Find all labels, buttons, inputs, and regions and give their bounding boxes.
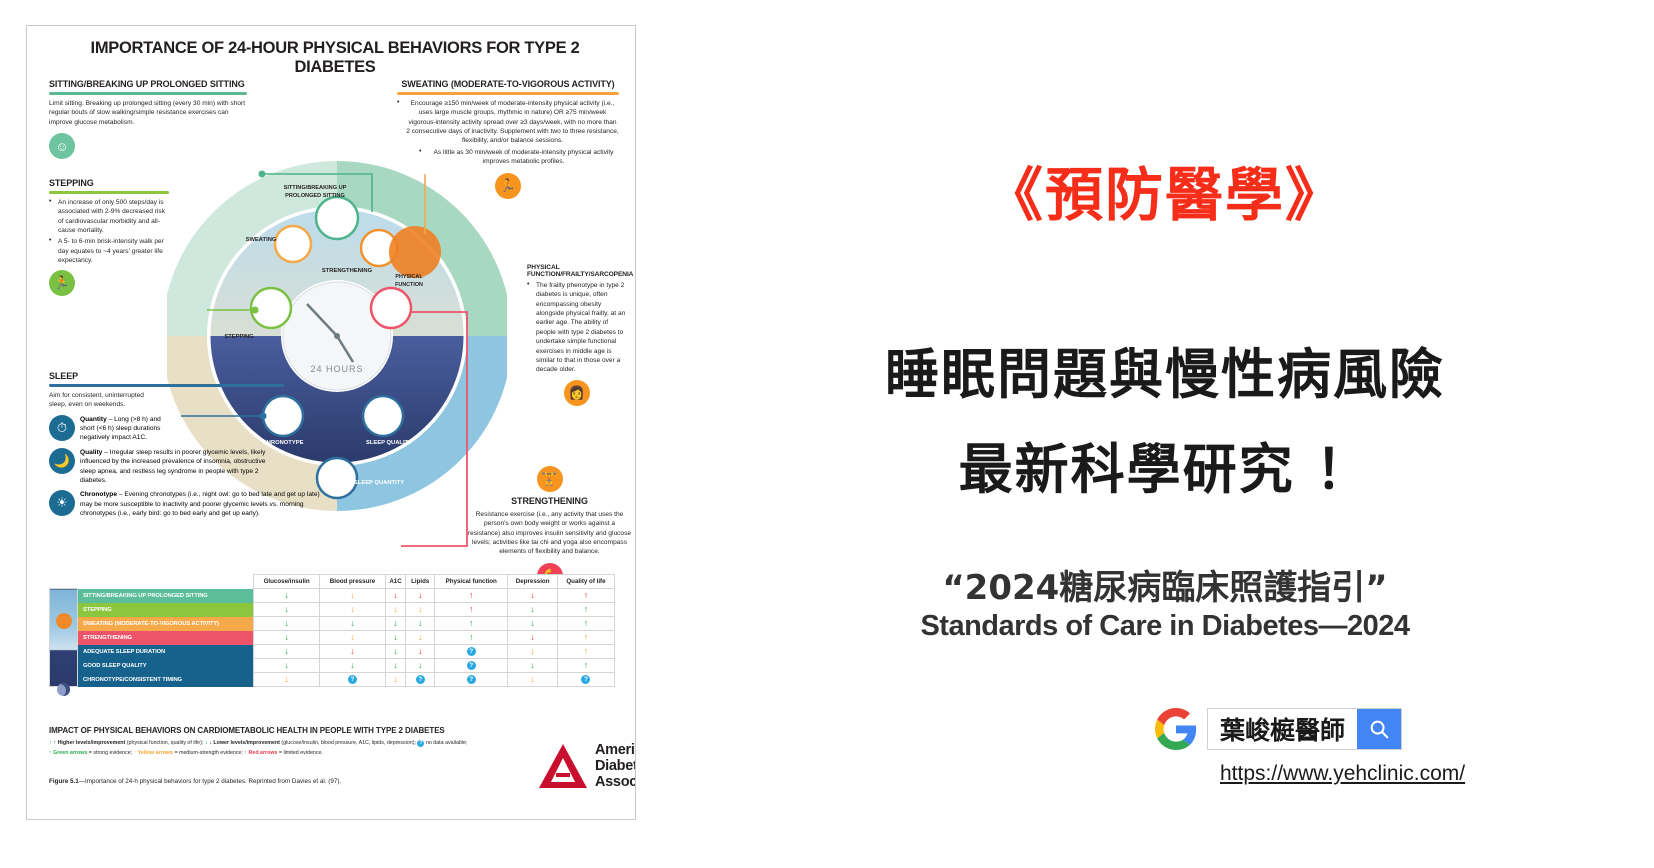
table-cell: ↓: [385, 617, 406, 631]
arrow-down-green-icon: ↓: [418, 618, 423, 628]
legend-line-2: ↑ Green arrows = strong evidence; ↑ Yell…: [49, 750, 609, 757]
arrow-down-red-icon: ↓: [393, 590, 398, 600]
running-person-icon: 🏃: [495, 173, 521, 199]
svg-text:SLEEP QUANTITY: SLEEP QUANTITY: [354, 480, 404, 486]
table-cell: ↓: [508, 631, 558, 645]
svg-text:STRENGTHENING: STRENGTHENING: [322, 268, 373, 274]
table-row: STEPPING↓↓↓↓↑↓↑: [50, 603, 615, 617]
arrow-down-green-icon: ↓: [530, 618, 535, 628]
headline-line-1: 睡眠問題與慢性病風險: [700, 330, 1630, 409]
arrow-up-yellow-icon: ↑: [584, 632, 589, 642]
arrow-down-green-icon: ↓: [350, 618, 355, 628]
table-cell: ↑: [557, 603, 614, 617]
ada-line-2: Diabetes: [595, 758, 636, 774]
section-physical-function: Physical function/frailty/sarcopenia The…: [527, 264, 627, 406]
table-cell: ↓: [385, 631, 406, 645]
table-cell: ↓: [385, 603, 406, 617]
arrow-up-red-icon: ↑: [469, 604, 474, 614]
no-data-icon: ?: [467, 647, 476, 656]
arrow-up-green-icon: ↑: [584, 604, 589, 614]
figure-note: Figure 5.1—Importance of 24-h physical b…: [49, 778, 519, 785]
legend-up-label: ↑ Higher levels/improvement: [53, 740, 125, 746]
section-stepping: STEPPING An increase of only 500 steps/d…: [49, 178, 169, 296]
clinic-website-link[interactable]: https://www.yehclinic.com/: [1220, 762, 1465, 786]
sleep-quality-label: Quality: [80, 449, 102, 456]
table-cell: ↓: [508, 589, 558, 603]
ada-wordmark: American Diabetes Association: [595, 742, 636, 791]
table-cell: ↓: [385, 645, 406, 659]
row-label: GOOD SLEEP QUALITY: [78, 659, 254, 673]
section-body-strengthening: Resistance exercise (i.e., any activity …: [467, 510, 632, 557]
legend-down-label: ↓ Lower levels/improvement: [209, 740, 280, 746]
subtitle-english: Standards of Care in Diabetes—2024: [700, 610, 1630, 643]
sleep-item-quality: 🌙 Quality – Irregular sleep results in p…: [49, 448, 349, 485]
ada-triangle-icon: [537, 742, 589, 790]
table-cell: ↓: [254, 589, 320, 603]
page-title: 《預防醫學》: [700, 148, 1630, 232]
physical-function-bullets: The frailty phenotype in type 2 diabetes…: [527, 281, 627, 375]
svg-text:SWEATING: SWEATING: [246, 237, 277, 243]
search-icon: [1368, 718, 1390, 740]
slide-root: IMPORTANCE OF 24-HOUR PHYSICAL BEHAVIORS…: [0, 0, 1654, 868]
divider-orange: [397, 92, 619, 95]
table-cell: ↑: [435, 617, 508, 631]
arrow-down-red-icon: ↓: [530, 590, 535, 600]
legend-red-label: ↑ Red arrows: [244, 750, 277, 756]
legend-nodata: no data available;: [424, 740, 467, 746]
column-header-a1c: A1C: [385, 575, 406, 589]
svg-text:SLEEP QUALITY: SLEEP QUALITY: [366, 440, 412, 446]
arrow-down-green-icon: ↓: [393, 660, 398, 670]
section-strengthening: 🏋 STRENGTHENING Resistance exercise (i.e…: [467, 466, 632, 589]
arrow-down-yellow-icon: ↓: [393, 674, 398, 684]
section-body-sitting: Limit sitting. Breaking up prolonged sit…: [49, 99, 247, 127]
arrow-down-green-icon: ↓: [284, 604, 289, 614]
arrow-up-red-icon: ↑: [469, 590, 474, 600]
table-cell: ↓: [254, 645, 320, 659]
table-caption: IMPACT OF PHYSICAL BEHAVIORS ON CARDIOME…: [49, 726, 609, 735]
table-cell: ↑: [435, 603, 508, 617]
column-header-depression: Depression: [508, 575, 558, 589]
list-item: The frailty phenotype in type 2 diabetes…: [527, 281, 627, 375]
arrow-down-yellow-icon: ↓: [418, 604, 423, 614]
arrow-up-red-icon: ↑: [584, 590, 589, 600]
table-header: Glucose/insulin Blood pressure A1C Lipid…: [50, 575, 615, 589]
arrow-down-red-icon: ↓: [418, 646, 423, 656]
ada-line-3: Association: [595, 774, 636, 790]
header-behavior-blank: [78, 575, 254, 589]
weightlifting-icon: 🏋: [537, 466, 563, 492]
sleep-intro: Aim for consistent, uninterrupted sleep,…: [49, 391, 144, 410]
legend-up-note: (physical function, quality of life);: [125, 740, 205, 746]
list-item: A 5- to 6-min brisk-intensity walk per d…: [49, 237, 169, 265]
legend-red-note: = limited evidence.: [277, 750, 323, 756]
table-cell: ↓: [385, 659, 406, 673]
column-header-glucose-insulin: Glucose/insulin: [254, 575, 320, 589]
subtitle-chinese: “2024糖尿病臨床照護指引”: [700, 560, 1630, 609]
infographic-figure: IMPORTANCE OF 24-HOUR PHYSICAL BEHAVIORS…: [26, 25, 636, 820]
sleep-chronotype-label: Chronotype: [80, 491, 117, 498]
table-cell: ↓: [320, 631, 385, 645]
table-cell: ↑: [557, 659, 614, 673]
row-label: STRENGTHENING: [78, 631, 254, 645]
group-exercise-icon: ☺: [49, 133, 75, 159]
arrow-down-yellow-icon: ↓: [350, 604, 355, 614]
stepping-bullets: An increase of only 500 steps/day is ass…: [49, 198, 169, 266]
arrow-down-green-icon: ↓: [284, 646, 289, 656]
table-row: SWEATING (MODERATE-TO-VIGOROUS ACTIVITY)…: [50, 617, 615, 631]
table-row: CHRONOTYPE/CONSISTENT TIMING↓?↓??↓?: [50, 673, 615, 687]
legend-green-label: ↑ Green arrows: [49, 750, 87, 756]
sleep-moon-zzz-icon: 🌙: [49, 448, 75, 474]
right-content-panel: 《預防醫學》 睡眠問題與慢性病風險 最新科學研究 ！ “2024糖尿病臨床照護指…: [700, 30, 1630, 830]
column-header-lipids: Lipids: [406, 575, 435, 589]
no-data-icon: ?: [348, 675, 357, 684]
section-heading-physical-function: Physical function/frailty/sarcopenia: [527, 264, 627, 278]
column-header-quality-of-life: Quality of life: [557, 575, 614, 589]
legend-line-1: ↑ ↑ Higher levels/improvement (physical …: [49, 740, 609, 747]
google-search-widget[interactable]: 葉峻榳醫師: [1155, 708, 1402, 750]
table-cell: ↑: [435, 631, 508, 645]
table-cell: ?: [435, 659, 508, 673]
row-label: SWEATING (MODERATE-TO-VIGOROUS ACTIVITY): [78, 617, 254, 631]
arrow-down-green-icon: ↓: [350, 660, 355, 670]
sleep-item-chronotype: ☀ Chronotype – Evening chronotypes (i.e.…: [49, 490, 349, 518]
arrow-down-green-icon: ↓: [284, 632, 289, 642]
arrow-down-yellow-icon: ↓: [418, 632, 423, 642]
table-cell: ↓: [320, 645, 385, 659]
day-night-band-icon: [50, 589, 78, 687]
arrow-down-yellow-icon: ↓: [350, 590, 355, 600]
figure-note-label: Figure 5.1: [49, 778, 79, 785]
arrow-down-yellow-icon: ↓: [350, 632, 355, 642]
arrow-down-yellow-icon: ↓: [393, 604, 398, 614]
table-cell: ↓: [508, 645, 558, 659]
table-cell: ↑: [557, 631, 614, 645]
table-row: STRENGTHENING↓↓↓↓↑↓↑: [50, 631, 615, 645]
figure-note-text: —Importance of 24-h physical behaviors f…: [79, 778, 342, 785]
table-cell: ↓: [406, 603, 435, 617]
table-body: SITTING/BREAKING UP PROLONGED SITTING↓↓↓…: [50, 589, 615, 687]
table-cell: ↓: [508, 673, 558, 687]
table-cell: ↓: [508, 617, 558, 631]
arrow-up-green-icon: ↑: [469, 632, 474, 642]
section-sitting: SITTING/BREAKING UP PROLONGED SITTING Li…: [49, 79, 247, 159]
table-cell: ↓: [406, 659, 435, 673]
sleep-clock-icon: ⏱: [49, 415, 75, 441]
table-cell: ↓: [320, 603, 385, 617]
arrow-down-yellow-icon: ↓: [530, 674, 535, 684]
figure-title: IMPORTANCE OF 24-HOUR PHYSICAL BEHAVIORS…: [65, 39, 605, 77]
impact-table: Glucose/insulin Blood pressure A1C Lipid…: [49, 574, 615, 687]
table-cell: ↓: [406, 589, 435, 603]
table-cell: ↓: [254, 603, 320, 617]
sleep-item-quantity: ⏱ Quantity – Long (>8 h) and short (<6 h…: [49, 415, 349, 443]
table-row: GOOD SLEEP QUALITY↓↓↓↓?↓↑: [50, 659, 615, 673]
arrow-down-green-icon: ↓: [393, 618, 398, 628]
table-cell: ↓: [406, 631, 435, 645]
table-cell: ↓: [508, 603, 558, 617]
arrow-down-green-icon: ↓: [530, 604, 535, 614]
no-data-icon: ?: [416, 675, 425, 684]
section-sweating: SWEATING (MODERATE-TO-VIGOROUS ACTIVITY)…: [397, 79, 619, 199]
section-heading-stepping: STEPPING: [49, 178, 169, 188]
divider-green: [49, 92, 247, 95]
table-cell: ↓: [508, 659, 558, 673]
arrow-down-green-icon: ↓: [393, 646, 398, 656]
row-label: CHRONOTYPE/CONSISTENT TIMING: [78, 673, 254, 687]
table-cell: ↓: [406, 645, 435, 659]
elderly-walking-icon: 👩: [564, 380, 590, 406]
table-cell: ↓: [385, 673, 406, 687]
table-cell: ?: [435, 673, 508, 687]
header-icon-spacer: [50, 575, 78, 589]
arrow-down-green-icon: ↓: [393, 632, 398, 642]
svg-text:PHYSICAL: PHYSICAL: [395, 274, 423, 280]
table-cell: ↓: [254, 617, 320, 631]
arrow-up-green-icon: ↑: [469, 618, 474, 628]
svg-text:SITTING/BREAKING UP: SITTING/BREAKING UP: [284, 185, 347, 191]
search-input[interactable]: 葉峻榳醫師: [1208, 709, 1357, 749]
svg-text:STEPPING: STEPPING: [224, 334, 254, 340]
headline-line-2: 最新科學研究 ！: [700, 425, 1630, 504]
column-header-physical-function: Physical function: [435, 575, 508, 589]
table-cell: ↑: [435, 589, 508, 603]
google-g-icon: [1155, 708, 1197, 750]
arrow-up-yellow-icon: ↑: [584, 646, 589, 656]
arrow-down-green-icon: ↓: [284, 660, 289, 670]
table-cell: ↓: [254, 631, 320, 645]
arrow-down-red-icon: ↓: [350, 646, 355, 656]
arrow-up-green-icon: ↑: [584, 618, 589, 628]
moon-icon: [57, 683, 70, 696]
table-cell: ?: [557, 673, 614, 687]
arrow-down-yellow-icon: ↓: [284, 674, 289, 684]
arrow-down-green-icon: ↓: [284, 590, 289, 600]
table-cell: ↓: [254, 659, 320, 673]
legend-down-note: (glucose/insulin, blood pressure, A1C, l…: [280, 740, 418, 746]
legend-yellow-note: = medium-strength evidence;: [173, 750, 244, 756]
ada-line-1: American: [595, 742, 636, 758]
table-cell: ?: [435, 645, 508, 659]
table-cell: ↓: [254, 673, 320, 687]
arrow-down-yellow-icon: ↓: [530, 646, 535, 656]
sweating-bullets: Encourage ≥150 min/week of moderate-inte…: [397, 99, 619, 167]
no-data-icon: ?: [581, 675, 590, 684]
search-button[interactable]: [1357, 709, 1401, 749]
table-cell: ?: [406, 673, 435, 687]
no-data-icon: ?: [467, 661, 476, 670]
column-header-blood-pressure: Blood pressure: [320, 575, 385, 589]
section-heading-sitting: SITTING/BREAKING UP PROLONGED SITTING: [49, 79, 247, 89]
table-cell: ↑: [557, 589, 614, 603]
arrow-down-green-icon: ↓: [530, 660, 535, 670]
table-cell: ↓: [385, 589, 406, 603]
sunrise-icon: ☀: [49, 490, 75, 516]
table-row: SITTING/BREAKING UP PROLONGED SITTING↓↓↓…: [50, 589, 615, 603]
sleep-quantity-label: Quantity: [80, 416, 107, 423]
table-cell: ↓: [320, 589, 385, 603]
row-label: SITTING/BREAKING UP PROLONGED SITTING: [78, 589, 254, 603]
row-label: ADEQUATE SLEEP DURATION: [78, 645, 254, 659]
arrow-down-red-icon: ↓: [418, 590, 423, 600]
svg-text:PROLONGED SITTING: PROLONGED SITTING: [285, 193, 345, 199]
section-heading-strengthening: STRENGTHENING: [467, 496, 632, 506]
table-cell: ↓: [320, 617, 385, 631]
row-label: STEPPING: [78, 603, 254, 617]
sleep-quality-text: – Irregular sleep results in poorer glyc…: [80, 449, 265, 484]
no-data-icon: ?: [467, 675, 476, 684]
arrow-down-red-icon: ↓: [530, 632, 535, 642]
svg-text:FUNCTION: FUNCTION: [395, 282, 423, 288]
table-row: ADEQUATE SLEEP DURATION↓↓↓↓?↓↑: [50, 645, 615, 659]
sun-icon: [56, 613, 72, 629]
list-item: As little as 30 min/week of moderate-int…: [419, 148, 619, 167]
arrow-down-green-icon: ↓: [418, 660, 423, 670]
divider-lime: [49, 191, 169, 194]
table-cell: ?: [320, 673, 385, 687]
list-item: An increase of only 500 steps/day is ass…: [49, 198, 169, 235]
section-heading-sleep: SLEEP: [49, 371, 349, 381]
search-box[interactable]: 葉峻榳醫師: [1207, 708, 1402, 750]
american-diabetes-association-logo: American Diabetes Association: [537, 731, 636, 801]
divider-blue: [49, 384, 284, 387]
legend-green-note: = strong evidence;: [87, 750, 133, 756]
section-sleep: SLEEP Aim for consistent, uninterrupted …: [49, 371, 349, 518]
arrow-down-green-icon: ↓: [284, 618, 289, 628]
table-header-row: Glucose/insulin Blood pressure A1C Lipid…: [50, 575, 615, 589]
arrow-up-green-icon: ↑: [584, 660, 589, 670]
table-cell: ↑: [557, 617, 614, 631]
table-cell: ↓: [406, 617, 435, 631]
walking-person-icon: 🏃: [49, 270, 75, 296]
section-heading-sweating: SWEATING (MODERATE-TO-VIGOROUS ACTIVITY): [397, 79, 619, 89]
list-item: Encourage ≥150 min/week of moderate-inte…: [397, 99, 619, 146]
legend-yellow-label: ↑ Yellow arrows: [134, 750, 173, 756]
table-cell: ↓: [320, 659, 385, 673]
table-cell: ↑: [557, 645, 614, 659]
